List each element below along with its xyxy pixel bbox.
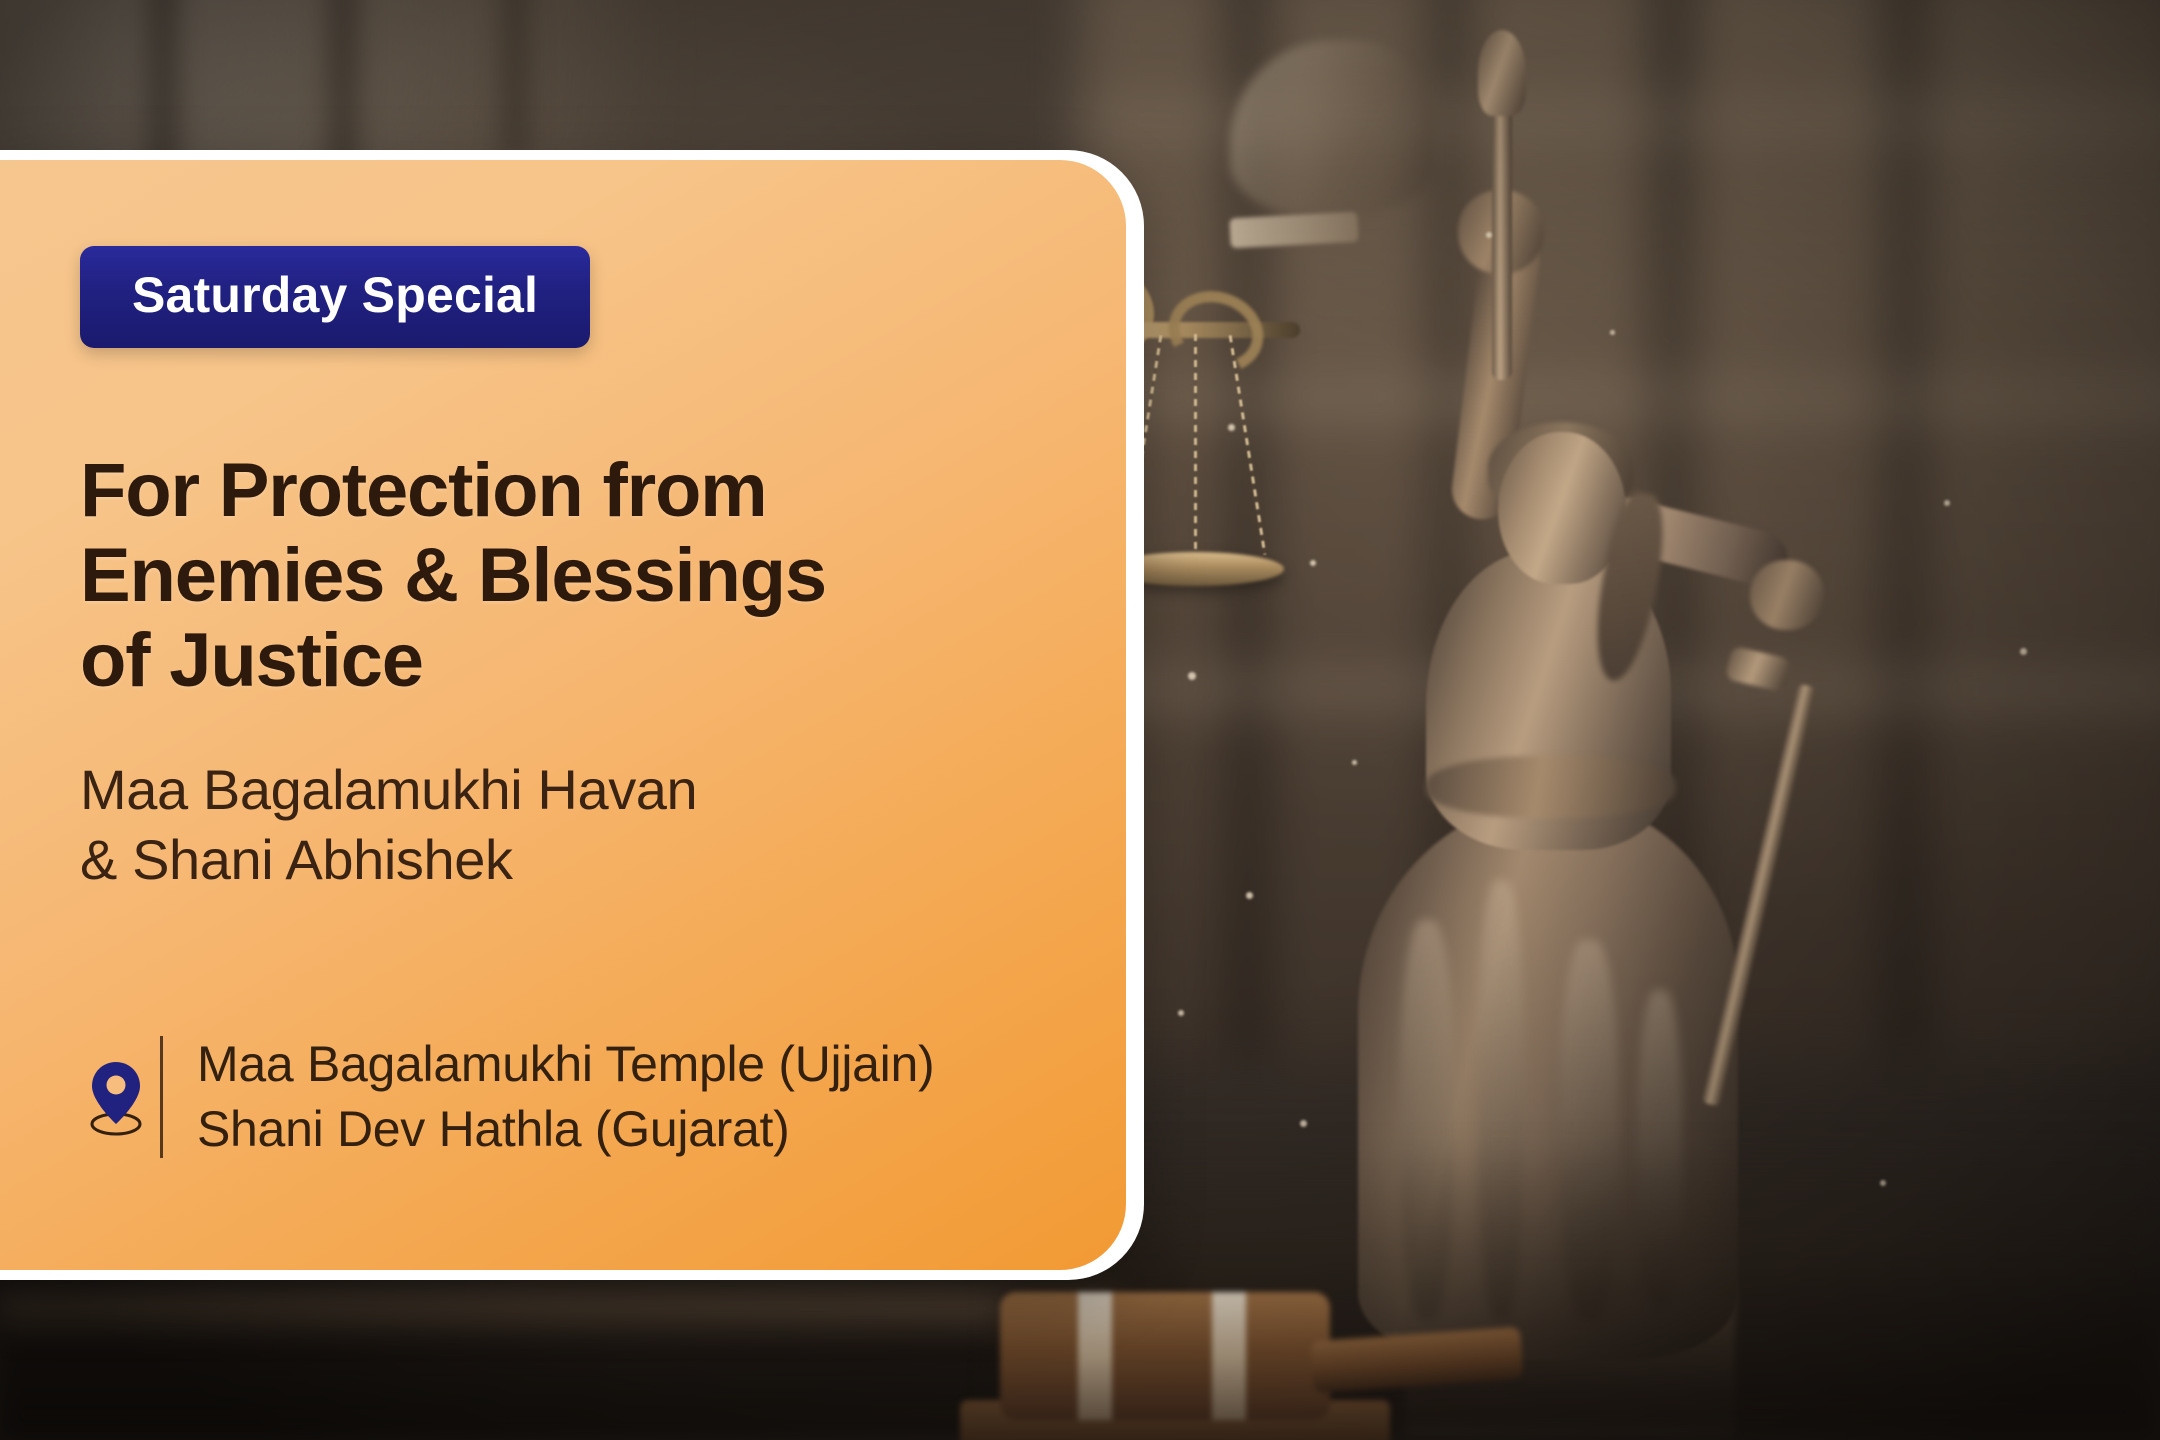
subtitle-line-1: Maa Bagalamukhi Havan bbox=[80, 755, 1006, 824]
location-divider bbox=[160, 1036, 163, 1158]
saturday-special-badge[interactable]: Saturday Special bbox=[80, 246, 590, 348]
location-line-1: Maa Bagalamukhi Temple (Ujjain) bbox=[197, 1032, 934, 1097]
desk-surface bbox=[0, 1291, 1120, 1335]
window-mullion bbox=[505, 0, 525, 160]
page-subtitle: Maa Bagalamukhi Havan & Shani Abhishek bbox=[80, 755, 1006, 894]
location-row: Maa Bagalamukhi Temple (Ujjain) Shani De… bbox=[80, 1032, 1006, 1162]
map-pin-icon bbox=[80, 1058, 152, 1136]
page-title: For Protection from Enemies & Blessings … bbox=[80, 448, 1006, 703]
location-text: Maa Bagalamukhi Temple (Ujjain) Shani De… bbox=[197, 1032, 934, 1162]
headline-line-2: Enemies & Blessings bbox=[80, 533, 1006, 618]
headline-line-3: of Justice bbox=[80, 618, 1006, 703]
promo-card-border: Saturday Special For Protection from Ene… bbox=[0, 150, 1144, 1280]
banner-stage: Saturday Special For Protection from Ene… bbox=[0, 0, 2160, 1440]
promo-card: Saturday Special For Protection from Ene… bbox=[0, 160, 1126, 1270]
location-line-2: Shani Dev Hathla (Gujarat) bbox=[197, 1097, 934, 1162]
subtitle-line-2: & Shani Abhishek bbox=[80, 825, 1006, 894]
headline-line-1: For Protection from bbox=[80, 448, 1006, 533]
gavel bbox=[960, 1260, 1520, 1440]
